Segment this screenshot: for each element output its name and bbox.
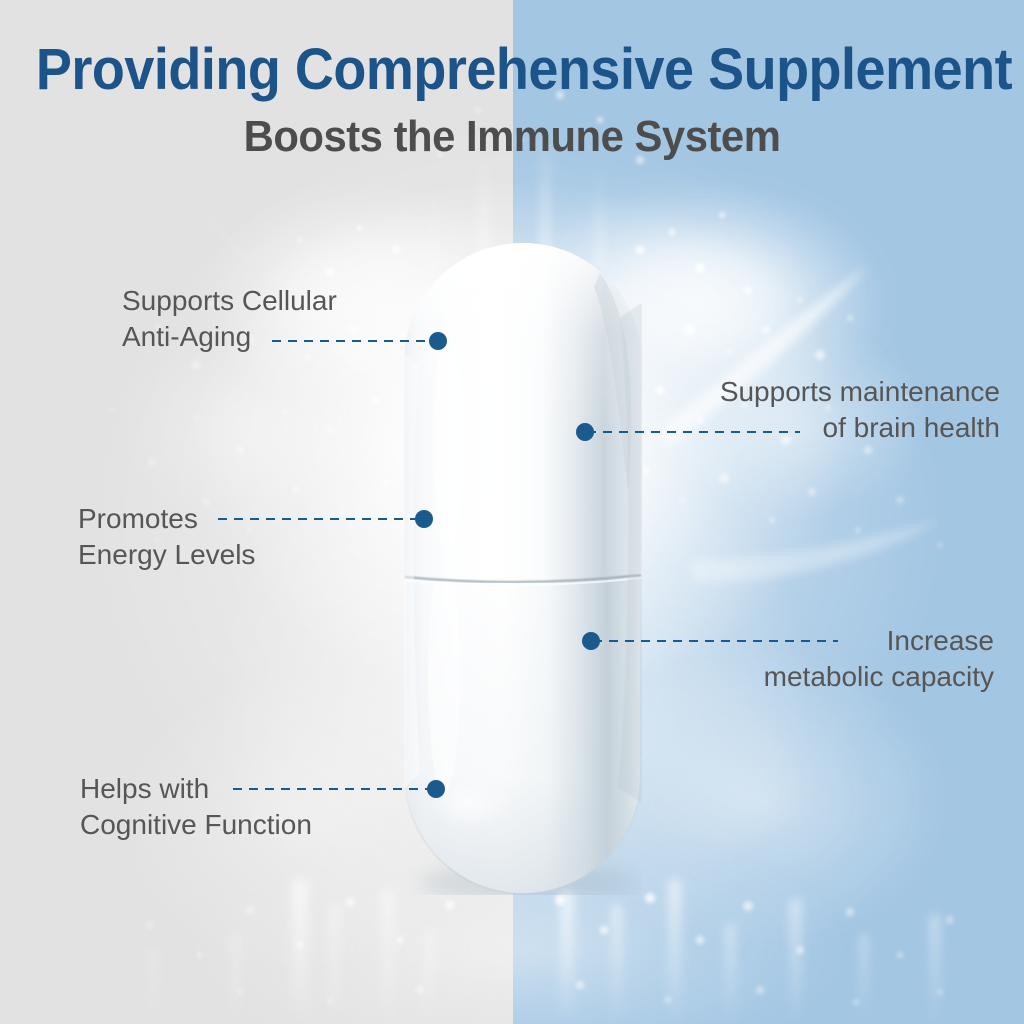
callout-line-2: Cognitive Function (80, 807, 312, 843)
callout-supports-cellular-anti-aging: Supports Cellular Anti-Aging (122, 283, 337, 355)
callout-line-1: Helps with (80, 771, 312, 807)
infographic-canvas: Providing Comprehensive Supplement Boost… (0, 0, 1024, 1024)
callout-supports-maintenance-brain-health: Supports maintenance of brain health (720, 374, 1000, 446)
capsule-pill (404, 243, 642, 895)
callout-line-2: metabolic capacity (764, 659, 994, 695)
callout-line-1: Supports Cellular (122, 283, 337, 319)
callout-line-2: of brain health (720, 410, 1000, 446)
callout-promotes-energy-levels: Promotes Energy Levels (78, 501, 255, 573)
page-subtitle: Boosts the Immune System (26, 112, 999, 162)
callout-line-1: Increase (764, 623, 994, 659)
callout-line-1: Supports maintenance (720, 374, 1000, 410)
page-title: Providing Comprehensive Supplement (36, 36, 988, 103)
callout-line-2: Energy Levels (78, 537, 255, 573)
callout-helps-with-cognitive-function: Helps with Cognitive Function (80, 771, 312, 843)
callout-increase-metabolic-capacity: Increase metabolic capacity (764, 623, 994, 695)
callout-line-1: Promotes (78, 501, 255, 537)
callout-line-2: Anti-Aging (122, 319, 337, 355)
